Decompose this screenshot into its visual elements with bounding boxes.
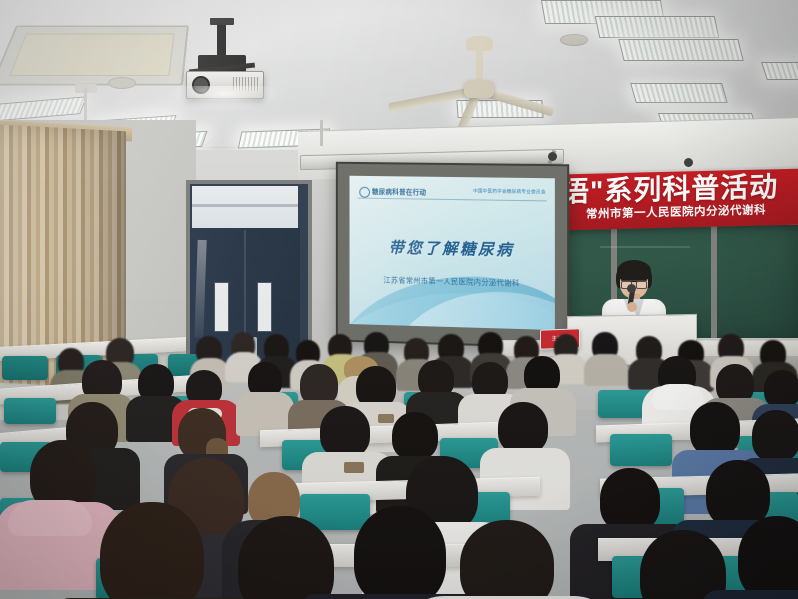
banner-sub-text: 常州市第一人民医院内分泌代谢科 <box>586 201 766 221</box>
door-transom-window <box>192 186 298 231</box>
hoodie-hood <box>652 384 704 410</box>
person-torso <box>702 590 798 599</box>
person-torso <box>584 354 628 386</box>
jacket-tag <box>378 414 394 423</box>
person-head <box>690 402 740 456</box>
door-vision-panel <box>257 282 272 332</box>
chalk-mark <box>600 246 690 248</box>
person-head <box>354 506 446 599</box>
chalkboard-divider <box>711 225 717 343</box>
chair-back <box>2 356 48 380</box>
person-head <box>498 402 548 454</box>
presenter-hand <box>627 302 637 312</box>
microphone-capsule <box>627 284 636 293</box>
projection-screen: 糖尿病科普在行动 中国中医药学会糖尿病专业委员会 带您了解糖尿病 江苏省常州市第… <box>336 162 569 349</box>
chair-back <box>4 398 56 424</box>
presentation-slide: 糖尿病科普在行动 中国中医药学会糖尿病专业委员会 带您了解糖尿病 江苏省常州市第… <box>349 176 554 330</box>
person-head <box>392 412 438 460</box>
person-head <box>320 406 370 458</box>
slide-header-right: 中国中医药学会糖尿病专业委员会 <box>473 188 546 195</box>
person-head <box>238 516 334 599</box>
person-head <box>600 468 660 532</box>
lecture-hall-photo: 泌语"系列科普活动 常州市第一人民医院内分泌代谢科 糖尿病科普在行动 中国中医药… <box>0 0 798 599</box>
chair-back <box>610 434 672 466</box>
slide-header-rule <box>357 198 546 202</box>
audience-area: HAYLOR <box>0 330 798 599</box>
person-head <box>738 516 798 599</box>
security-camera-icon <box>684 158 693 167</box>
door-vision-panel <box>214 282 229 332</box>
presenter-hair <box>617 260 651 282</box>
hoodie-hood <box>8 500 92 536</box>
slide-header-left: 糖尿病科普在行动 <box>372 186 426 197</box>
slide-title: 带您了解糖尿病 <box>349 235 554 261</box>
person-head <box>100 502 204 599</box>
person-head <box>460 520 554 599</box>
person-head <box>752 410 798 462</box>
jacket-tag <box>344 462 364 473</box>
wall-conduit <box>320 120 323 146</box>
wall-sensor-icon <box>548 152 557 161</box>
slide-logo-icon <box>359 187 370 198</box>
person-head <box>764 370 798 408</box>
person-head <box>706 460 770 528</box>
